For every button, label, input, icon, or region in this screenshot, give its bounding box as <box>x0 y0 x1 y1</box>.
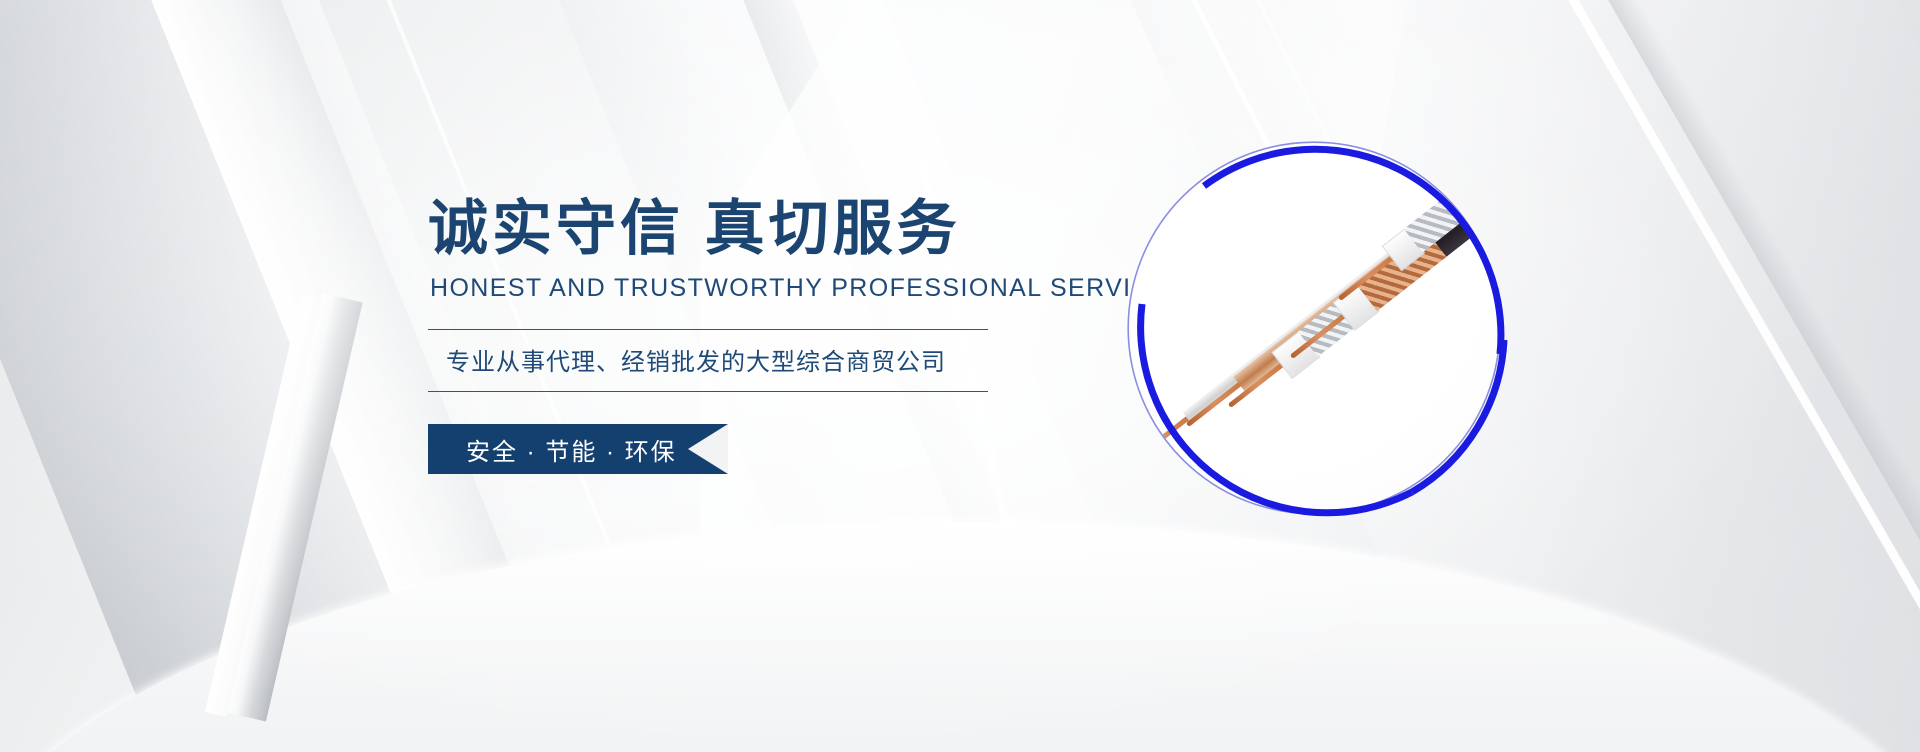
banner-subtitle-english: HONEST AND TRUSTWORTHY PROFESSIONAL SERV… <box>430 274 1068 303</box>
product-medallion <box>1128 142 1500 514</box>
banner-copy: 诚实守信 真切服务 HONEST AND TRUSTWORTHY PROFESS… <box>428 196 1068 474</box>
banner-subtitle-rule-box: 专业从事代理、经销批发的大型综合商贸公司 <box>428 329 988 392</box>
banner-ribbon-label: 安全 · 节能 · 环保 <box>466 432 677 467</box>
banner-subtitle-chinese: 专业从事代理、经销批发的大型综合商贸公司 <box>446 342 988 377</box>
banner-headline: 诚实守信 真切服务 <box>428 196 1068 262</box>
cable-print-marking <box>1476 142 1500 193</box>
cable-core <box>1133 414 1191 461</box>
banner-ribbon-tag: 安全 · 节能 · 环保 <box>428 424 728 474</box>
hero-banner: 诚实守信 真切服务 HONEST AND TRUSTWORTHY PROFESS… <box>0 0 1920 752</box>
cable-group <box>1129 143 1499 513</box>
product-photo <box>1128 142 1500 514</box>
